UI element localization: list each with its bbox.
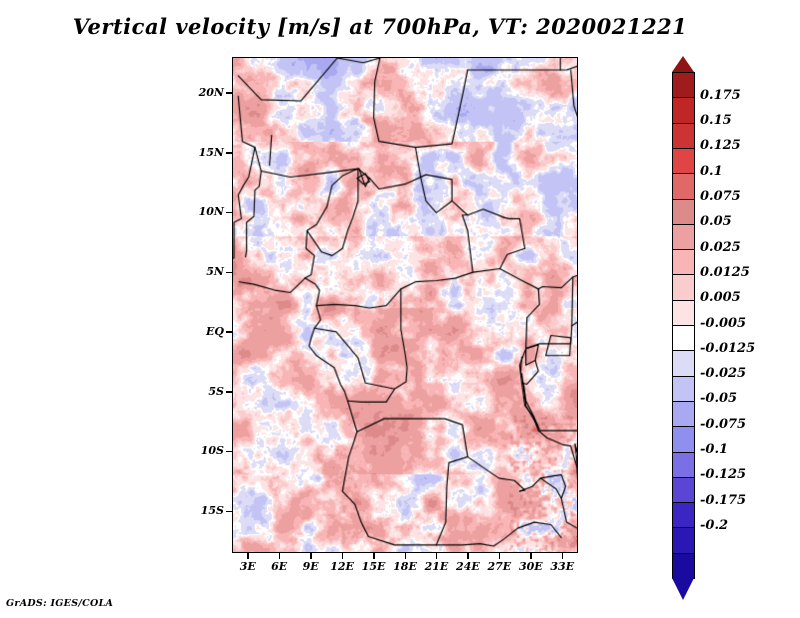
latitude-tick-label: 15S xyxy=(182,504,224,517)
colorbar-cell xyxy=(672,350,695,377)
page-title: Vertical velocity [m/s] at 700hPa, VT: 2… xyxy=(0,14,760,39)
colorbar-tick-label: -0.005 xyxy=(700,316,746,331)
latitude-tick xyxy=(226,212,232,214)
colorbar-cell xyxy=(672,325,695,352)
latitude-tick xyxy=(226,451,232,453)
longitude-tick xyxy=(562,553,564,559)
colorbar-cell xyxy=(672,477,695,504)
colorbar-tick-label: 0.005 xyxy=(700,290,741,305)
colorbar-tick-label: -0.175 xyxy=(700,493,746,508)
colorbar-tick-label: -0.025 xyxy=(700,366,746,381)
colorbar-tick-label: -0.05 xyxy=(700,391,737,406)
latitude-tick xyxy=(226,152,232,154)
colorbar-tick-label: 0.1 xyxy=(700,164,723,179)
colorbar-arrow-top xyxy=(672,56,694,72)
longitude-tick xyxy=(436,553,438,559)
latitude-tick-label: 10S xyxy=(182,444,224,457)
latitude-tick-label: 10N xyxy=(182,205,224,218)
colorbar-tick-label: 0.175 xyxy=(700,88,741,103)
colorbar-cell xyxy=(672,97,695,124)
colorbar-cell xyxy=(672,502,695,529)
colorbar-tick-label: 0.025 xyxy=(700,240,741,255)
colorbar-tick-label: -0.2 xyxy=(700,518,728,533)
longitude-tick xyxy=(405,553,407,559)
colorbar-cell xyxy=(672,527,695,554)
latitude-tick-label: 5N xyxy=(182,265,224,278)
longitude-tick xyxy=(499,553,501,559)
colorbar-cell xyxy=(672,274,695,301)
colorbar-cell xyxy=(672,173,695,200)
latitude-tick-label: 5S xyxy=(182,385,224,398)
vertical-velocity-heatmap xyxy=(233,58,577,552)
colorbar-tick-label: -0.0125 xyxy=(700,341,755,356)
latitude-tick xyxy=(226,272,232,274)
colorbar-cell xyxy=(672,123,695,150)
colorbar-cell xyxy=(672,553,695,580)
colorbar-cell xyxy=(672,426,695,453)
colorbar-cell xyxy=(672,300,695,327)
latitude-tick-label: 15N xyxy=(182,146,224,159)
colorbar-cell xyxy=(672,401,695,428)
colorbar-cell xyxy=(672,199,695,226)
latitude-tick xyxy=(226,391,232,393)
latitude-tick-label: EQ xyxy=(182,325,224,338)
latitude-tick xyxy=(226,331,232,333)
colorbar-tick-label: 0.05 xyxy=(700,214,732,229)
longitude-tick xyxy=(342,553,344,559)
longitude-tick xyxy=(279,553,281,559)
longitude-tick xyxy=(373,553,375,559)
colorbar-cell xyxy=(672,72,695,99)
latitude-tick xyxy=(226,92,232,94)
latitude-tick-label: 20N xyxy=(182,86,224,99)
longitude-tick xyxy=(310,553,312,559)
longitude-tick xyxy=(467,553,469,559)
map-plot-area xyxy=(232,57,578,553)
colorbar-tick-label: 0.075 xyxy=(700,189,741,204)
colorbar-cell xyxy=(672,452,695,479)
colorbar-arrow-bottom xyxy=(672,578,694,600)
colorbar-cell xyxy=(672,376,695,403)
colorbar-tick-label: -0.1 xyxy=(700,442,728,457)
colorbar-tick-label: -0.075 xyxy=(700,417,746,432)
latitude-tick xyxy=(226,511,232,513)
colorbar-tick-label: 0.0125 xyxy=(700,265,750,280)
colorbar-cell xyxy=(672,148,695,175)
longitude-tick xyxy=(247,553,249,559)
colorbar-cell xyxy=(672,249,695,276)
longitude-tick xyxy=(530,553,532,559)
grads-credit: GrADS: IGES/COLA xyxy=(6,598,113,609)
longitude-tick-label: 33E xyxy=(542,560,582,573)
colorbar-cell xyxy=(672,224,695,251)
colorbar-tick-label: -0.125 xyxy=(700,467,746,482)
colorbar-tick-label: 0.15 xyxy=(700,113,732,128)
colorbar-tick-label: 0.125 xyxy=(700,138,741,153)
